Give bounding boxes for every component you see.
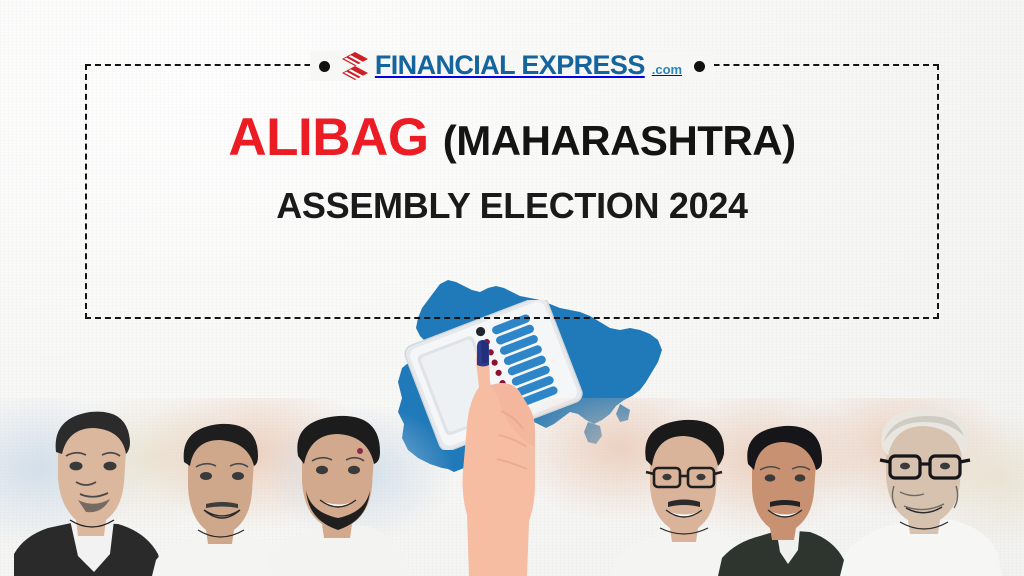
- portrait-politician-1: [14, 396, 164, 576]
- financial-express-logo[interactable]: FINANCIAL EXPRESS .com: [342, 52, 682, 80]
- poster-canvas: ALIBAG (MAHARASHTRA) ASSEMBLY ELECTION 2…: [0, 0, 1024, 576]
- masthead-right-dot: [694, 61, 705, 72]
- headline-block: ALIBAG (MAHARASHTRA) ASSEMBLY ELECTION 2…: [85, 110, 939, 227]
- portrait-politician-5: [718, 418, 848, 576]
- financial-express-diamond-mark: [342, 52, 368, 80]
- masthead-left-dot: [319, 61, 330, 72]
- state-name: (MAHARASHTRA): [443, 117, 796, 164]
- constituency-name: ALIBAG: [228, 108, 428, 167]
- brand-suffix: .com: [652, 63, 682, 76]
- page-subtitle: ASSEMBLY ELECTION 2024: [85, 185, 939, 227]
- portrait-politician-6: [838, 396, 1006, 576]
- masthead: FINANCIAL EXPRESS .com: [0, 50, 1024, 82]
- brand-wordmark: FINANCIAL EXPRESS: [375, 52, 645, 79]
- portrait-politician-3: [262, 404, 412, 576]
- page-title: ALIBAG (MAHARASHTRA): [85, 110, 939, 166]
